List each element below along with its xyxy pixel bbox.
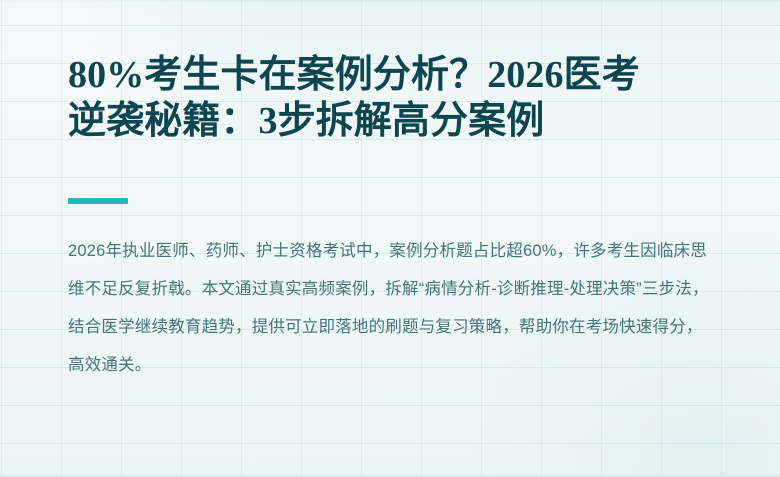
page-title-line-2: 逆袭秘籍：3步拆解高分案例 xyxy=(68,98,713,144)
article-cover-card: 80%考生卡在案例分析？2026医考 逆袭秘籍：3步拆解高分案例 2026年执业… xyxy=(0,0,780,477)
page-title: 80%考生卡在案例分析？2026医考 逆袭秘籍：3步拆解高分案例 xyxy=(68,52,713,144)
article-summary: 2026年执业医师、药师、护士资格考试中，案例分析题占比超60%，许多考生因临床… xyxy=(68,232,718,384)
page-title-line-1: 80%考生卡在案例分析？2026医考 xyxy=(68,52,713,98)
title-underline-accent xyxy=(68,198,128,204)
content-column: 80%考生卡在案例分析？2026医考 逆袭秘籍：3步拆解高分案例 2026年执业… xyxy=(68,0,716,477)
